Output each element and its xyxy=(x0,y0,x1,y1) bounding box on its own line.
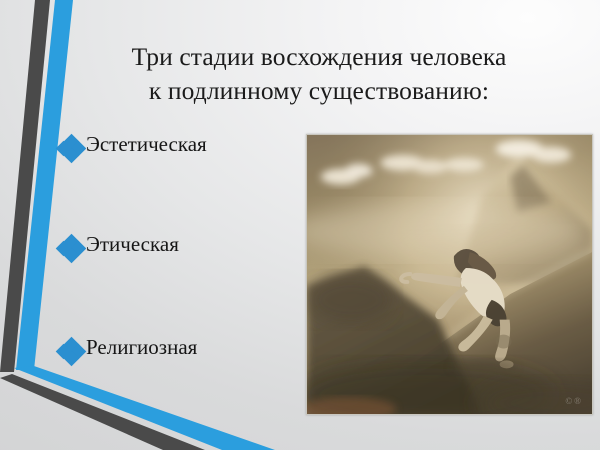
bar-dark-upper xyxy=(0,0,50,372)
slide-photo-frame: ©® xyxy=(306,134,593,415)
climber-photo: ©® xyxy=(307,135,592,414)
diamond-cluster-bullet-icon xyxy=(58,339,86,365)
bullet-label-religious: Религиозная xyxy=(86,337,197,358)
page-title: Три стадии восхождения человека к подлин… xyxy=(64,40,574,108)
diamond-cluster-bullet-icon xyxy=(58,236,86,262)
bullet-list: Эстетическая Этическая Религиозная xyxy=(58,132,303,435)
list-item: Эстетическая xyxy=(58,132,303,232)
bullet-label-aesthetic: Эстетическая xyxy=(86,134,207,155)
bullet-label-ethical: Этическая xyxy=(86,234,179,255)
slide-canvas: Три стадии восхождения человека к подлин… xyxy=(0,0,600,450)
title-line-1: Три стадии восхождения человека xyxy=(64,40,574,74)
diamond-cluster-bullet-icon xyxy=(58,136,86,162)
title-line-2: к подлинному существованию: xyxy=(64,74,574,108)
photo-watermark: ©® xyxy=(565,396,583,406)
list-item: Религиозная xyxy=(58,335,303,435)
climber-photo-artwork xyxy=(307,135,592,414)
list-item: Этическая xyxy=(58,232,303,335)
